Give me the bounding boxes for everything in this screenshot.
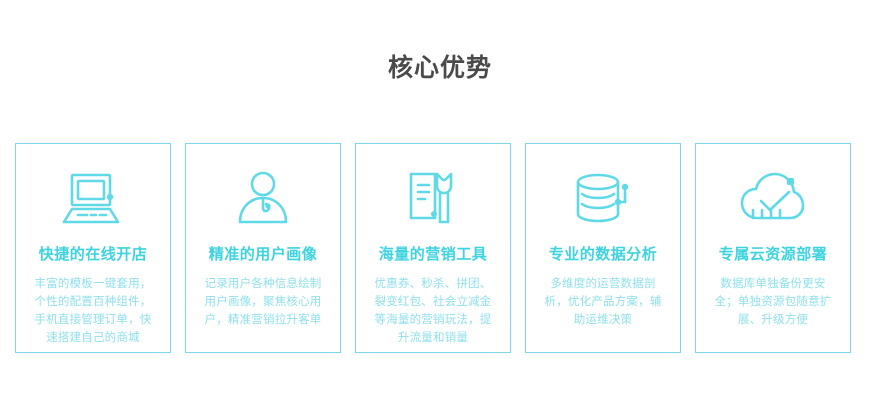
advantage-card[interactable]: 专属云资源部署 数据库单独备份更安全；单独资源包随意扩展、升级方便 (695, 143, 851, 353)
advantage-card-description: 记录用户各种信息绘制用户画像，聚焦核心用户，精准营销拉升客单 (199, 275, 327, 329)
advantage-card-title: 快捷的在线开店 (39, 244, 148, 266)
advantage-card-description: 优惠券、秒杀、拼团、裂变红包、社会立减金等海量的营销玩法，提升流量和销量 (369, 275, 497, 347)
page-title: 核心优势 (0, 52, 880, 84)
advantage-card-list: 快捷的在线开店 丰富的模板一键套用，个性的配置百种组件，手机直接管理订单，快速搭… (15, 143, 865, 353)
advantage-card[interactable]: 快捷的在线开店 丰富的模板一键套用，个性的配置百种组件，手机直接管理订单，快速搭… (15, 143, 171, 353)
user-profile-icon (228, 168, 298, 230)
advantage-card-description: 丰富的模板一键套用，个性的配置百种组件，手机直接管理订单，快速搭建自己的商城 (29, 275, 157, 347)
advantage-card[interactable]: 海量的营销工具 优惠券、秒杀、拼团、裂变红包、社会立减金等海量的营销玩法，提升流… (355, 143, 511, 353)
advantage-card[interactable]: 精准的用户画像 记录用户各种信息绘制用户画像，聚焦核心用户，精准营销拉升客单 (185, 143, 341, 353)
advantage-card-title: 专属云资源部署 (719, 244, 828, 266)
database-icon (568, 168, 638, 230)
cloud-check-icon (738, 168, 808, 230)
advantage-card[interactable]: 专业的数据分析 多维度的运营数据剖析，优化产品方案，辅助运维决策 (525, 143, 681, 353)
core-advantages-section: 核心优势 快捷的在线开店 丰富的模板一键套用，个性的配置百种组件，手机直接管理订… (0, 0, 880, 402)
advantage-card-title: 专业的数据分析 (549, 244, 658, 266)
advantage-card-title: 海量的营销工具 (379, 244, 488, 266)
advantage-card-title: 精准的用户画像 (209, 244, 318, 266)
advantage-card-description: 多维度的运营数据剖析，优化产品方案，辅助运维决策 (539, 275, 667, 329)
laptop-icon (58, 168, 128, 230)
document-wrench-icon (398, 168, 468, 230)
advantage-card-description: 数据库单独备份更安全；单独资源包随意扩展、升级方便 (709, 275, 837, 329)
